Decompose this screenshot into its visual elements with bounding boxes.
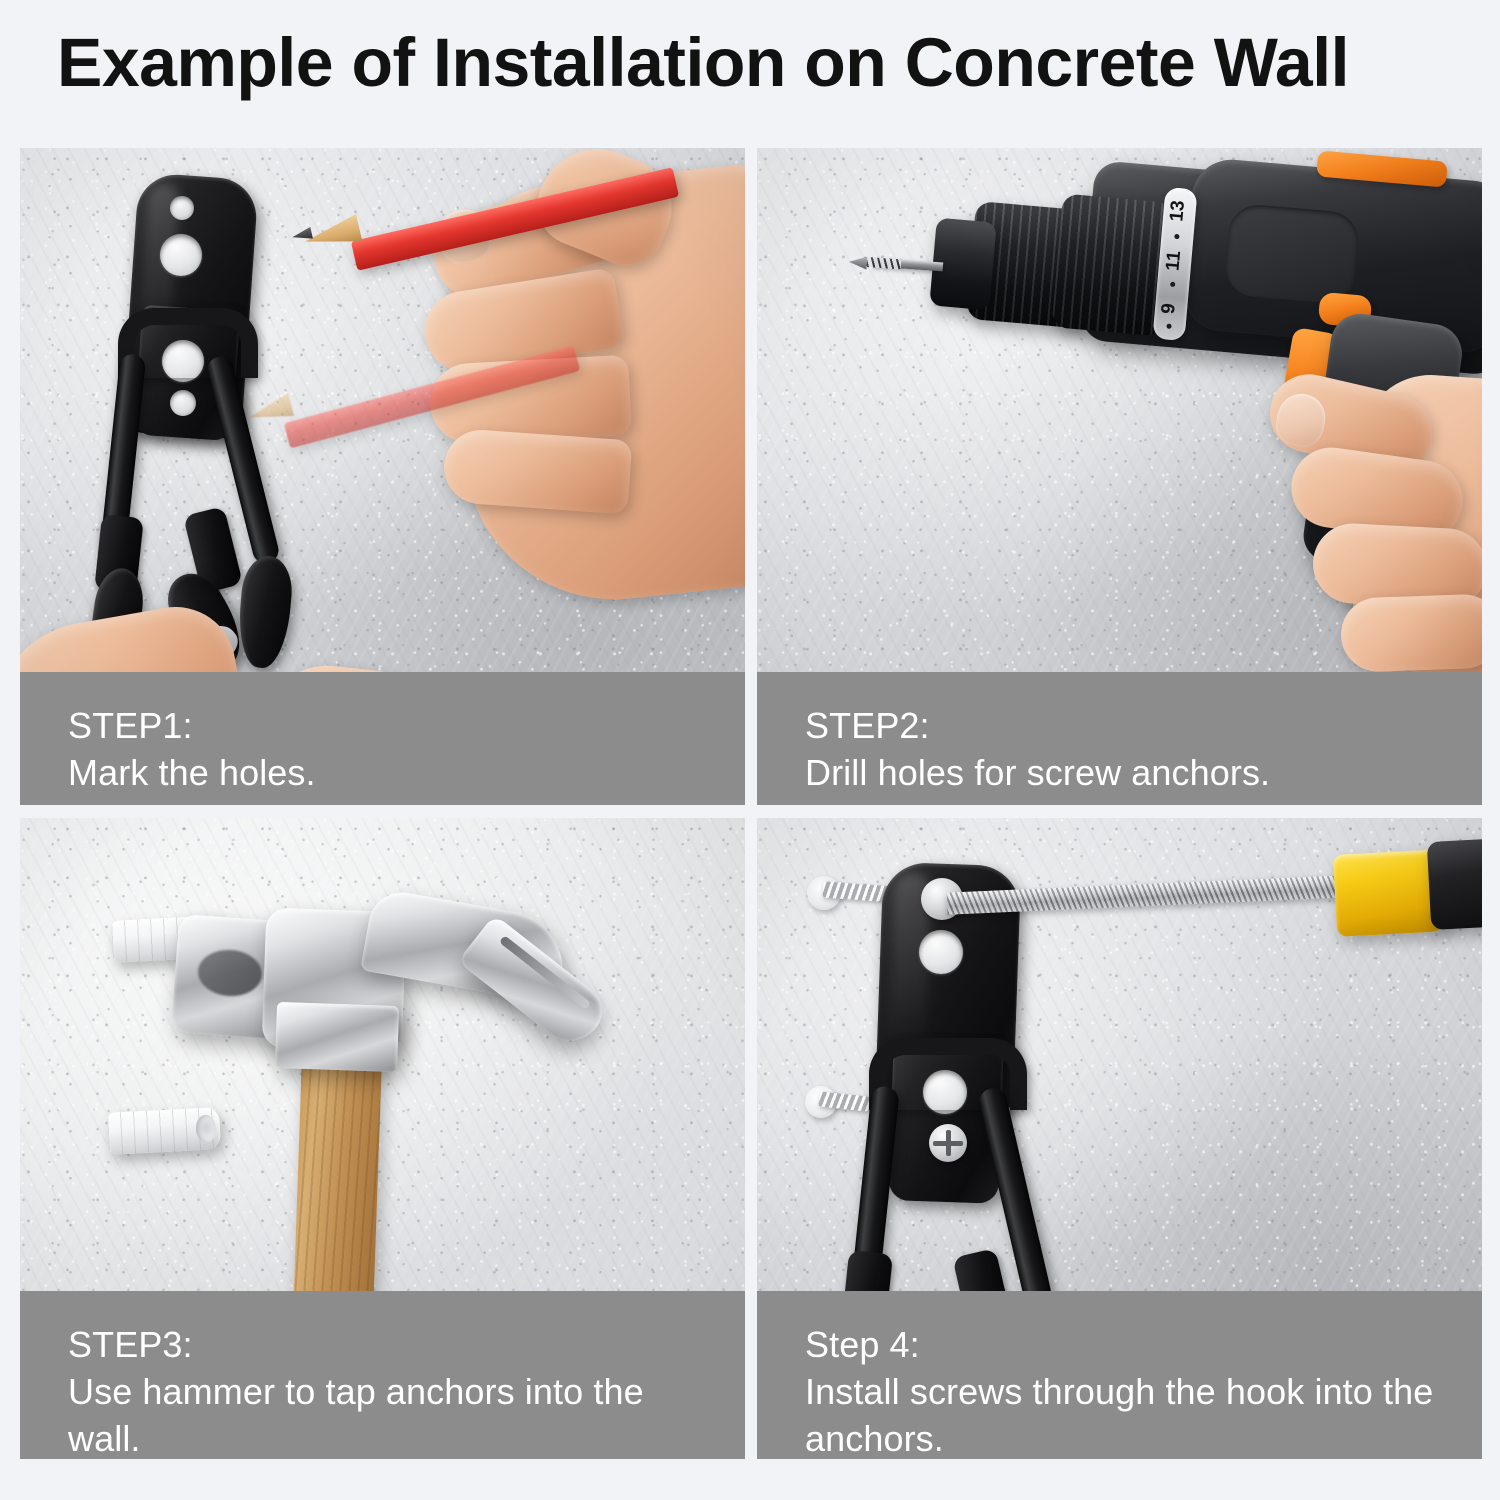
screw-hole-bottom bbox=[170, 390, 196, 416]
mount-hole-upper bbox=[160, 234, 202, 276]
step-panel-1[interactable]: STEP1: Mark the holes. bbox=[20, 148, 745, 805]
wall-anchor-lower bbox=[107, 1107, 221, 1155]
step-1-caption: STEP1: Mark the holes. bbox=[20, 672, 745, 805]
hook-tip-front bbox=[235, 554, 295, 670]
screw-hole-top bbox=[170, 196, 194, 220]
installation-guide-page: Example of Installation on Concrete Wall bbox=[0, 0, 1500, 1500]
step-2-text-line1: Drill holes for screw anchors. bbox=[805, 749, 1482, 796]
step-3-label: STEP3: bbox=[68, 1321, 745, 1368]
step-4-label: Step 4: bbox=[805, 1321, 1482, 1368]
screwdriver-grip[interactable] bbox=[1427, 838, 1482, 930]
torque-number-9: 9 bbox=[1158, 302, 1181, 314]
step-3-text-line2: wall. bbox=[68, 1415, 745, 1459]
finger-little bbox=[1340, 593, 1482, 673]
step-4-text-line1: Install screws through the hook into the bbox=[805, 1368, 1482, 1415]
torque-dot bbox=[1170, 282, 1175, 287]
step-3-caption: STEP3: Use hammer to tap anchors into th… bbox=[20, 1291, 745, 1459]
step-1-text-line1: Mark the holes. bbox=[68, 749, 745, 796]
step-panel-2[interactable]: 13 11 9 bbox=[757, 148, 1482, 805]
torque-number-13: 13 bbox=[1166, 200, 1190, 223]
step-panel-4[interactable]: Step 4: Install screws through the hook … bbox=[757, 818, 1482, 1459]
hammer-eye-collar bbox=[275, 1002, 399, 1072]
page-title: Example of Installation on Concrete Wall bbox=[57, 28, 1436, 97]
torque-number-11: 11 bbox=[1162, 250, 1186, 272]
step-panel-3[interactable]: STEP3: Use hammer to tap anchors into th… bbox=[20, 818, 745, 1459]
step-4-text-line2: anchors. bbox=[805, 1415, 1482, 1459]
mount-hole-upper bbox=[919, 930, 963, 974]
step-2-caption: STEP2: Drill holes for screw anchors. bbox=[757, 672, 1482, 805]
step-2-label: STEP2: bbox=[805, 702, 1482, 749]
screw-slot-h bbox=[933, 1141, 963, 1146]
step-4-caption: Step 4: Install screws through the hook … bbox=[757, 1291, 1482, 1459]
torque-dot bbox=[1166, 324, 1171, 329]
drill-grip-inset bbox=[1223, 203, 1361, 306]
step-1-label: STEP1: bbox=[68, 702, 745, 749]
step-3-text-line1: Use hammer to tap anchors into the bbox=[68, 1368, 745, 1415]
torque-dot bbox=[1174, 234, 1179, 239]
steps-grid: STEP1: Mark the holes. 13 bbox=[20, 148, 1482, 1459]
